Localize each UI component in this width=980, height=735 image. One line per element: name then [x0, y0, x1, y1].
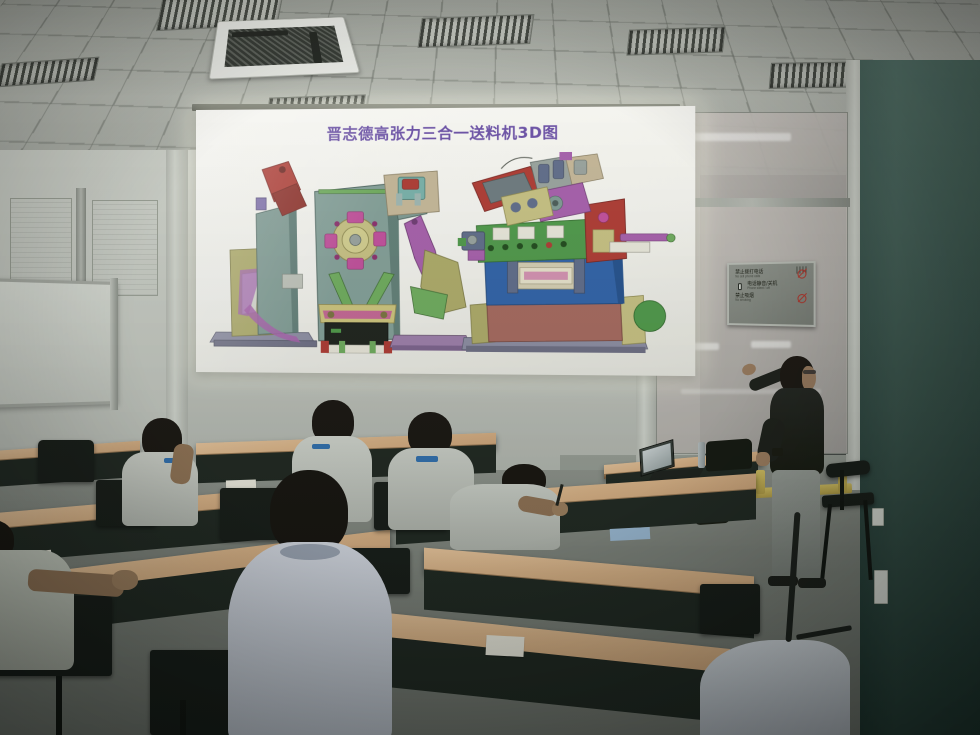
- attendee-collar: [280, 544, 340, 560]
- recessed-louver-light-icon: [418, 14, 535, 48]
- no-phone-icon: [797, 269, 806, 278]
- attendee-7: [700, 640, 850, 735]
- sign-text-en: No cell phone calls: [735, 275, 793, 279]
- ac-cassette-unit-icon: [209, 17, 361, 80]
- projection-screen-area: 晋志德高张力三合一送料机3D图: [196, 110, 681, 372]
- laptop-display: [642, 443, 671, 473]
- cad-drawing: [196, 151, 695, 362]
- slide-title: 晋志德高张力三合一送料机3D图: [196, 120, 695, 145]
- whiteboard: [0, 278, 116, 408]
- sign-row: 禁止吸烟 No smoking: [735, 294, 806, 303]
- presenter-hand-holding-remote: [756, 452, 770, 466]
- sign-text-en: No smoking: [735, 299, 793, 302]
- attendee-hand: [112, 570, 138, 590]
- chair-leg: [180, 700, 186, 735]
- attendee-4: [226, 470, 396, 735]
- recessed-louver-light-icon: [626, 26, 725, 55]
- attendee-shirt: [450, 484, 560, 550]
- document-paper-blue: [610, 527, 651, 541]
- training-room-scene: 禁止拨打电话 No cell phone calls 电话静音/关机 Phone…: [0, 0, 980, 735]
- wall-notice-sign: 禁止拨打电话 No cell phone calls 电话静音/关机 Phone…: [727, 261, 816, 327]
- attendee-shirt: [0, 550, 74, 670]
- document-paper: [486, 635, 525, 657]
- attendee-6: [460, 480, 580, 590]
- presenter: [746, 356, 856, 626]
- attendee-1: [118, 418, 214, 528]
- sign-row: 电话静音/关机 Phone silent / off: [735, 282, 806, 291]
- projection-screen: 晋志德高张力三合一送料机3D图: [196, 106, 695, 376]
- attendee-5: [0, 520, 140, 735]
- no-smoking-icon: [797, 294, 806, 303]
- whiteboard-frame-edge: [110, 278, 118, 410]
- phone-icon: [735, 282, 743, 291]
- sign-text-en: Phone silent / off: [747, 287, 806, 290]
- wall-outlet: [874, 570, 888, 604]
- presenter-glasses-icon: [803, 370, 816, 374]
- structural-pillar: [166, 150, 188, 450]
- attendee-hand-with-pen: [552, 502, 568, 516]
- attendee-lanyard: [312, 444, 330, 449]
- right-wall: [860, 60, 980, 735]
- presenter-shoe: [798, 578, 826, 588]
- glass-reflection: [751, 341, 791, 348]
- attendee-shirt: [700, 640, 850, 735]
- chair[interactable]: [38, 440, 94, 482]
- presenter-watch: [772, 448, 783, 456]
- attendee-lanyard: [416, 456, 438, 462]
- chair[interactable]: [700, 584, 760, 634]
- water-bottle: [698, 442, 705, 468]
- wall-outlet: [872, 508, 884, 526]
- attendee-shirt: [228, 542, 392, 735]
